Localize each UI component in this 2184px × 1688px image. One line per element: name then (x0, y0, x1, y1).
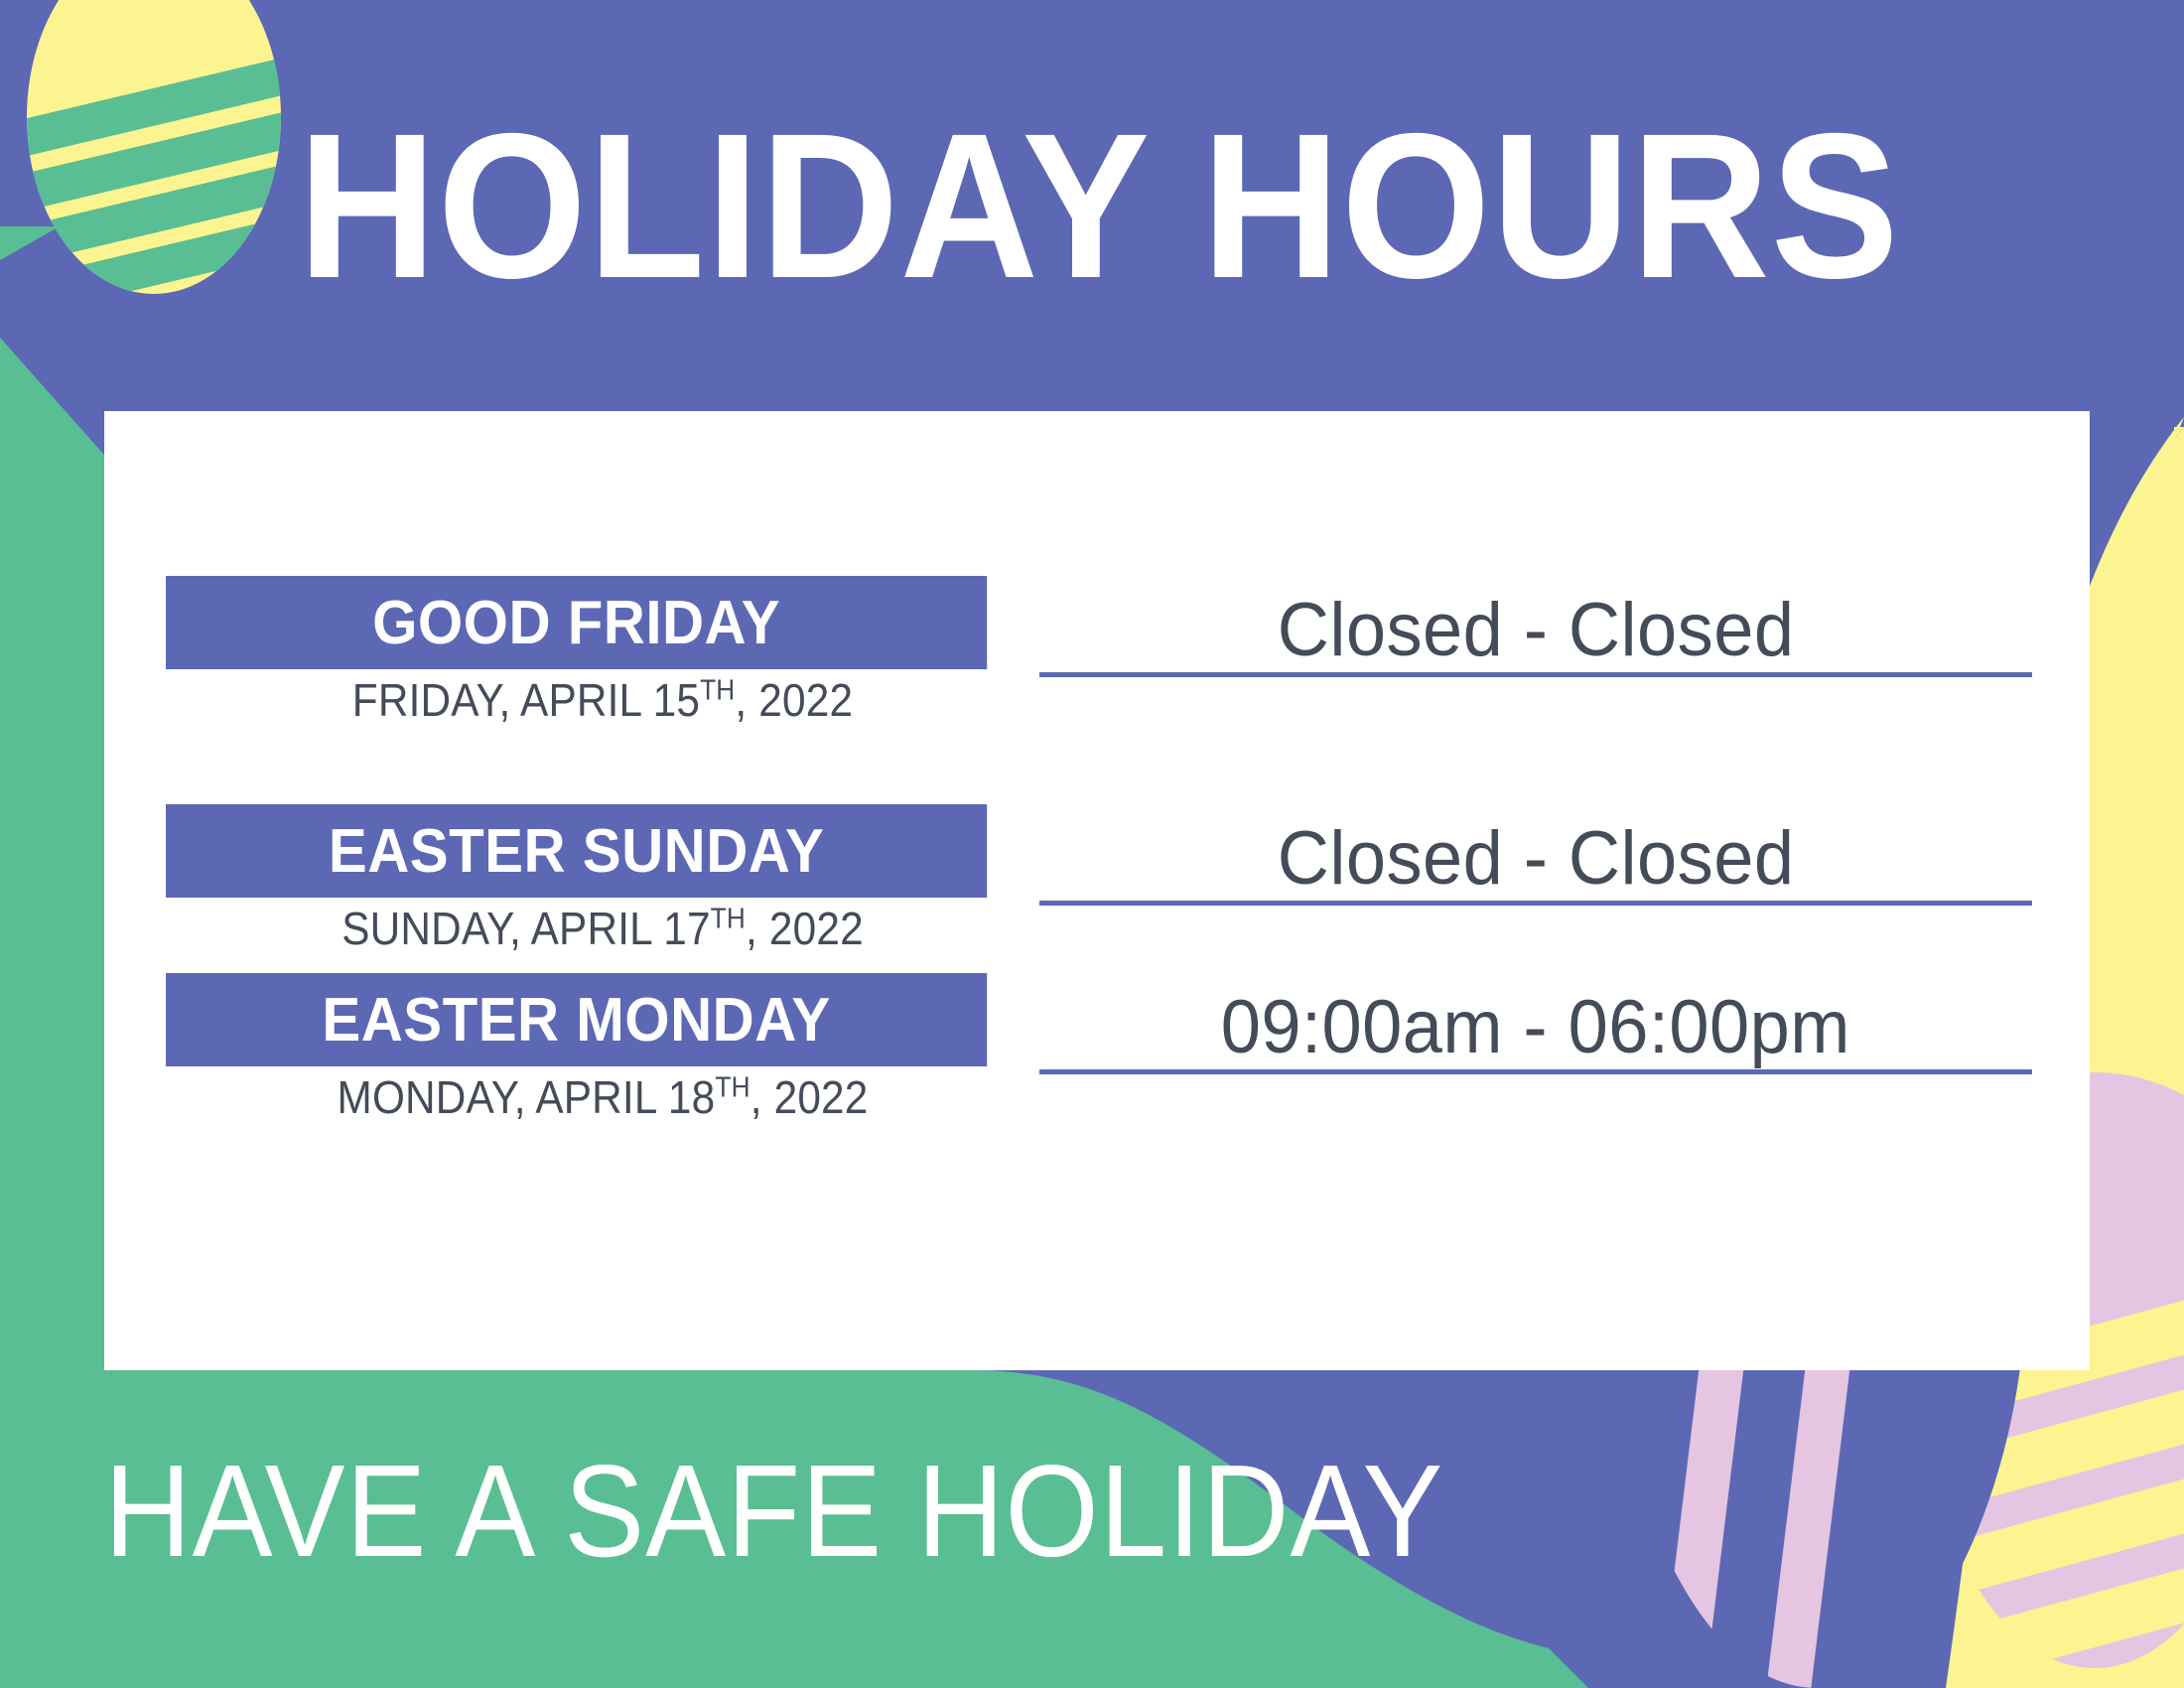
date-ordinal-suffix: TH (715, 1072, 750, 1104)
hours-value-container: Closed - Closed (1039, 804, 2032, 906)
green-left-panel-body (0, 338, 111, 1390)
holiday-name-bar: GOOD FRIDAY (166, 576, 987, 669)
footer-message: HAVE A SAFE HOLIDAY (104, 1442, 1474, 1591)
holiday-name-bar: EASTER MONDAY (166, 973, 987, 1066)
date-prefix: FRIDAY, APRIL 15 (352, 674, 700, 726)
holiday-date: MONDAY, APRIL 18TH, 2022 (201, 1070, 1005, 1124)
hours-value: 09:00am - 06:00pm (1221, 988, 1850, 1067)
date-prefix: MONDAY, APRIL 18 (338, 1071, 716, 1123)
date-ordinal-suffix: TH (700, 675, 735, 707)
hours-value: Closed - Closed (1278, 591, 1795, 670)
page-title: HOLIDAY HOURS (298, 107, 1867, 326)
date-prefix: SUNDAY, APRIL 17 (341, 903, 710, 954)
date-year: , 2022 (735, 674, 853, 726)
hours-value-container: 09:00am - 06:00pm (1039, 973, 2032, 1074)
hours-value: Closed - Closed (1278, 819, 1795, 899)
date-year: , 2022 (751, 1071, 869, 1123)
hours-value-container: Closed - Closed (1039, 576, 2032, 677)
date-year: , 2022 (746, 903, 864, 954)
holiday-name-bar: EASTER SUNDAY (166, 804, 987, 898)
hours-card: GOOD FRIDAY FRIDAY, APRIL 15TH, 2022 Clo… (104, 411, 2090, 1370)
holiday-date: SUNDAY, APRIL 17TH, 2022 (201, 902, 1005, 955)
holiday-date: FRIDAY, APRIL 15TH, 2022 (201, 673, 1005, 727)
holiday-hours-poster: HOLIDAY HOURS GOOD FRIDAY FRIDAY, APRIL … (0, 0, 2184, 1688)
date-ordinal-suffix: TH (711, 904, 746, 935)
